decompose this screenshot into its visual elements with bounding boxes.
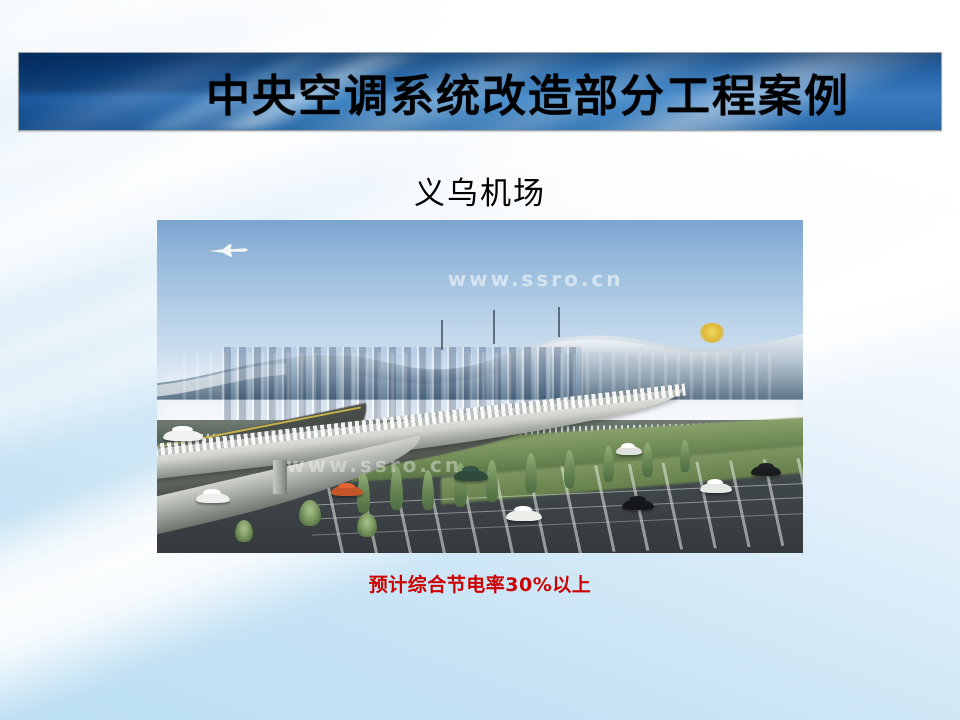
title-banner: 中央空调系统改造部分工程案例 bbox=[18, 52, 942, 131]
car bbox=[163, 430, 203, 441]
page-title: 中央空调系统改造部分工程案例 bbox=[19, 53, 941, 130]
project-subtitle: 义乌机场 bbox=[0, 168, 960, 213]
mast-pole-1 bbox=[441, 320, 443, 350]
mast-pole-2 bbox=[493, 310, 495, 344]
car bbox=[506, 510, 542, 521]
car bbox=[700, 483, 732, 493]
viaduct-pier bbox=[273, 460, 287, 494]
airport-photo: www.ssro.cn www.ssro.cn bbox=[157, 220, 803, 553]
photo-watermark-top: www.ssro.cn bbox=[448, 267, 624, 291]
mast-pole-3 bbox=[558, 307, 560, 337]
car bbox=[331, 486, 363, 496]
tree bbox=[603, 446, 614, 482]
car bbox=[751, 466, 781, 476]
tree bbox=[642, 443, 653, 477]
tree bbox=[235, 520, 253, 542]
airplane-icon bbox=[205, 242, 251, 258]
slide-canvas: 中央空调系统改造部分工程案例 义乌机场 bbox=[0, 0, 960, 720]
car bbox=[622, 500, 654, 510]
photo-watermark-middle: www.ssro.cn bbox=[286, 453, 462, 477]
savings-caption: 预计综合节电率30%以上 bbox=[0, 570, 960, 597]
car bbox=[196, 493, 230, 503]
car bbox=[616, 446, 642, 455]
